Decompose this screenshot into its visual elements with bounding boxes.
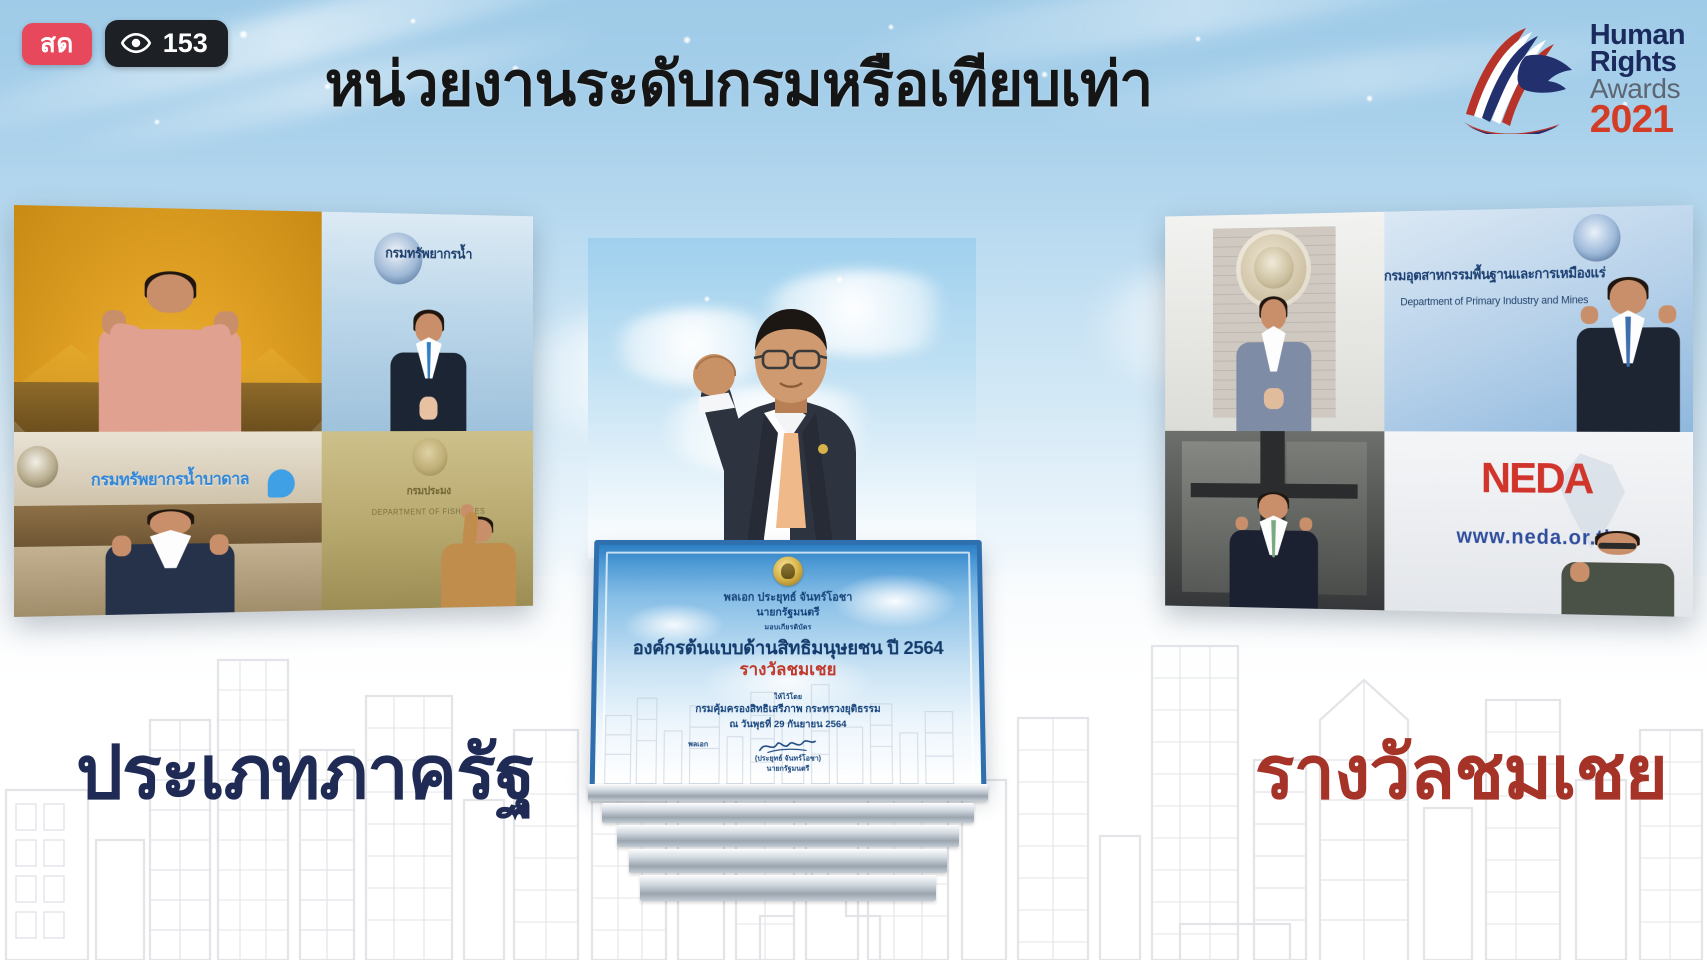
certificate-given-lead: ให้ไว้โดย — [596, 692, 980, 703]
thai-garuda-seal-icon — [773, 557, 803, 586]
certificate-pm-role: นายกรัฐมนตรี — [598, 605, 978, 619]
signature-icon — [756, 736, 821, 754]
certificate-pedestal — [578, 784, 998, 901]
logo-wordmark: Human Rights Awards 2021 — [1590, 18, 1685, 138]
certificate-organization: กรมคุ้มครองสิทธิเสรีภาพ กระทรวงยุติธรรม — [596, 703, 980, 718]
award-certificate-display: พลเอก ประยุทธ์ จันทร์โอชา นายกรัฐมนตรี ม… — [578, 538, 998, 903]
speaker-figure — [632, 303, 932, 558]
logo-line-year: 2021 — [1590, 102, 1685, 138]
broadcast-stage: สด 153 หน่วยงานระดับกรมหรือเทียบเท่า Hum… — [0, 0, 1707, 960]
center-speaker-video[interactable] — [588, 238, 976, 558]
certificate-award-lead: มอบเกียรติบัตร — [598, 622, 979, 633]
certificate-signer-name: (ประยุทธ์ จันทร์โอชา) — [595, 755, 981, 765]
human-rights-awards-logo: Human Rights Awards 2021 — [1456, 18, 1685, 138]
category-label: ประเภทภาครัฐ — [76, 736, 535, 810]
video-tile-caption: กรมทรัพยากรน้ำ — [322, 245, 533, 263]
certificate-prize: รางวัลชมเชย — [597, 661, 980, 680]
video-wall-right: กรมอุตสาหกรรมพื้นฐานและการเหมืองแร่ Depa… — [1165, 205, 1693, 617]
certificate-pm-name: พลเอก ประยุทธ์ จันทร์โอชา — [598, 591, 978, 606]
video-tile[interactable]: กรมประมง DEPARTMENT OF FISHERIES — [322, 430, 533, 610]
video-tile[interactable]: กรมทรัพยากรน้ำ — [322, 212, 533, 431]
logo-line-human: Human — [1590, 22, 1685, 49]
video-tile[interactable] — [1165, 212, 1385, 431]
thai-flag-bird-swoosh-icon — [1456, 22, 1584, 134]
video-tile-caption: NEDA — [1385, 456, 1693, 502]
live-badge: สด — [22, 23, 92, 65]
video-tile-caption: กรมประมง — [322, 485, 533, 498]
award-label: รางวัลชมเชย — [1255, 736, 1667, 810]
live-status-bar: สด 153 — [22, 20, 228, 67]
eye-icon — [121, 28, 151, 58]
viewer-count-value: 153 — [163, 30, 208, 57]
video-tile[interactable]: กรมทรัพยากรน้ำบาดาล — [14, 431, 322, 617]
certificate-main-title: องค์กรต้นแบบด้านสิทธิมนุษยชน ปี 2564 — [597, 637, 979, 658]
certificate-date: ณ วันพุธที่ 29 กันยายน 2564 — [596, 718, 981, 732]
certificate: พลเอก ประยุทธ์ จันทร์โอชา นายกรัฐมนตรี ม… — [590, 540, 987, 789]
video-tile[interactable] — [1165, 430, 1385, 610]
logo-line-rights: Rights — [1590, 49, 1685, 76]
video-tile[interactable]: กรมอุตสาหกรรมพื้นฐานและการเหมืองแร่ Depa… — [1385, 205, 1693, 432]
video-tile[interactable] — [14, 205, 322, 432]
viewer-count-badge: 153 — [105, 20, 228, 67]
certificate-signature-prefix: พลเอก — [688, 740, 708, 751]
certificate-signer-role: นายกรัฐมนตรี — [595, 765, 981, 775]
video-tile[interactable]: NEDA www.neda.or.th — [1385, 431, 1693, 617]
video-wall-left: กรมทรัพยากรน้ำ กรมทรัพยากรน้ำบาดาล — [14, 205, 533, 617]
certificate-signature-block: พลเอก — [595, 736, 980, 754]
